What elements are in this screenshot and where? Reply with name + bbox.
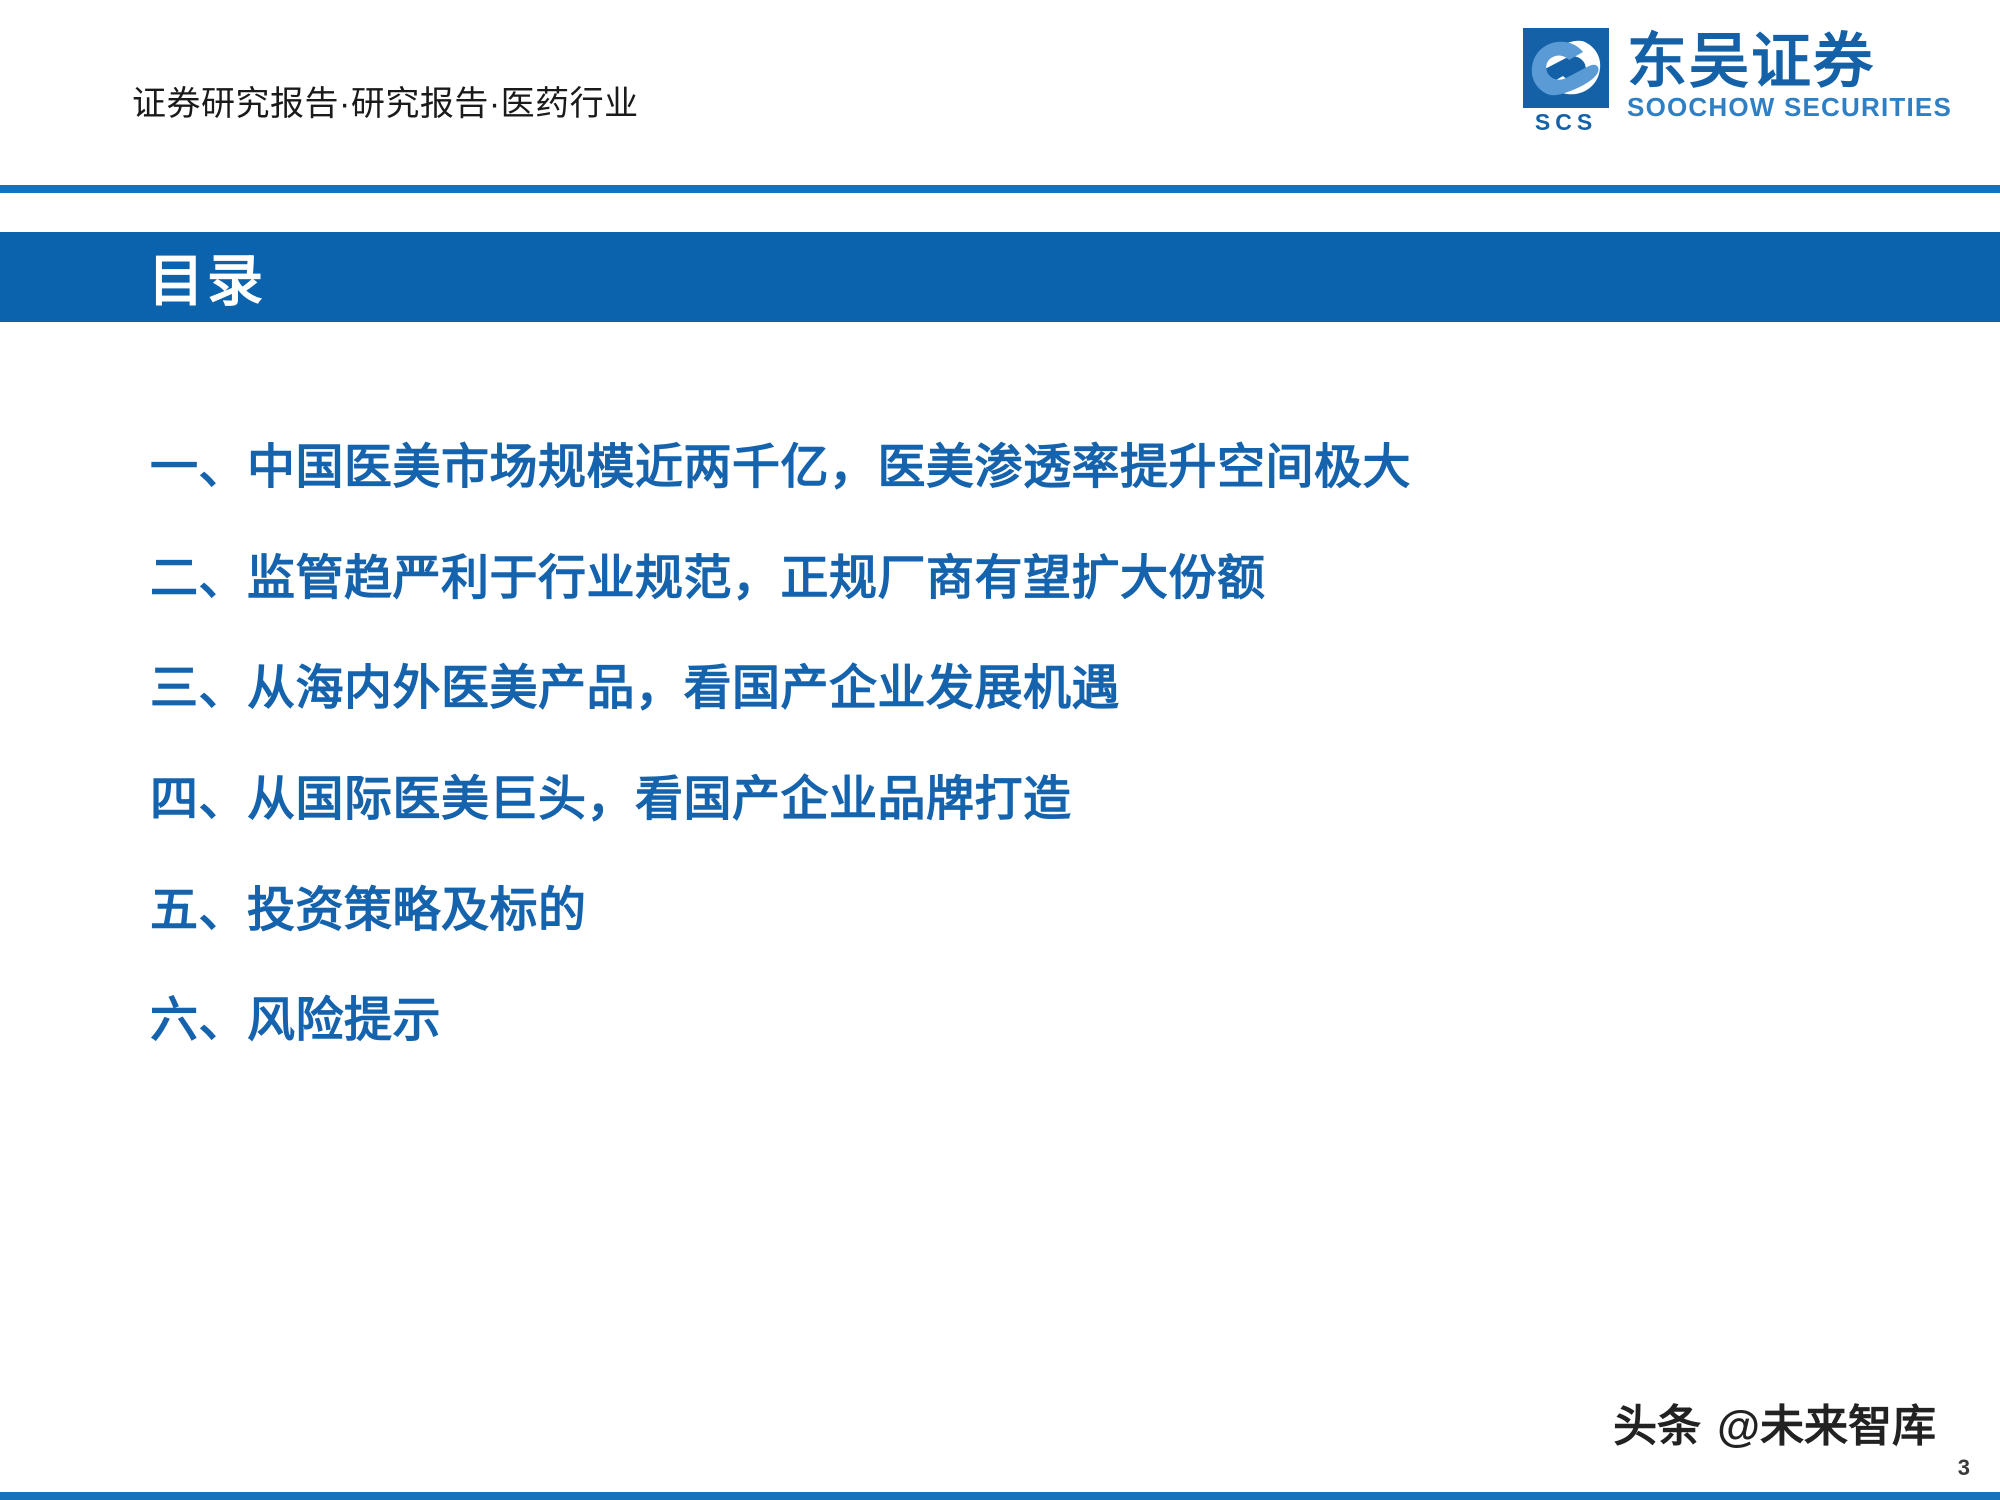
toc-item-5[interactable]: 五、投资策略及标的: [150, 883, 1850, 940]
page-title: 目录: [148, 237, 266, 318]
watermark-brand: 头条: [1613, 1390, 1701, 1454]
logo-mark-group: SCS: [1523, 28, 1609, 134]
watermark: 头条 @未来智库: [1613, 1390, 1936, 1454]
toc-item-2[interactable]: 二、监管趋严利于行业规范，正规厂商有望扩大份额: [150, 551, 1850, 608]
toc-item-3[interactable]: 三、从海内外医美产品，看国产企业发展机遇: [150, 661, 1850, 718]
header-divider: [0, 185, 2000, 193]
section-title-band: 目录: [0, 232, 2000, 322]
logo-name-cn: 东吴证券: [1627, 30, 1952, 93]
page-header: 证券研究报告·研究报告·医药行业 SCS 东吴证券 SOOCHOW SECURI…: [0, 0, 2000, 188]
toc-item-6[interactable]: 六、风险提示: [150, 993, 1850, 1050]
page-number: 3: [1958, 1455, 1970, 1481]
logo-abbreviation: SCS: [1535, 111, 1597, 134]
logo-text-group: 东吴证券 SOOCHOW SECURITIES: [1627, 28, 1952, 122]
company-logo: SCS 东吴证券 SOOCHOW SECURITIES: [1523, 28, 1952, 136]
footer-divider: [0, 1492, 2000, 1500]
table-of-contents: 一、中国医美市场规模近两千亿，医美渗透率提升空间极大 二、监管趋严利于行业规范，…: [150, 440, 1850, 1104]
toc-item-1[interactable]: 一、中国医美市场规模近两千亿，医美渗透率提升空间极大: [150, 440, 1850, 497]
toc-item-4[interactable]: 四、从国际医美巨头，看国产企业品牌打造: [150, 772, 1850, 829]
breadcrumb: 证券研究报告·研究报告·医药行业: [132, 76, 639, 125]
logo-name-en: SOOCHOW SECURITIES: [1627, 93, 1952, 122]
watermark-handle: @未来智库: [1717, 1390, 1936, 1454]
soochow-s-mark-icon: [1523, 28, 1609, 108]
